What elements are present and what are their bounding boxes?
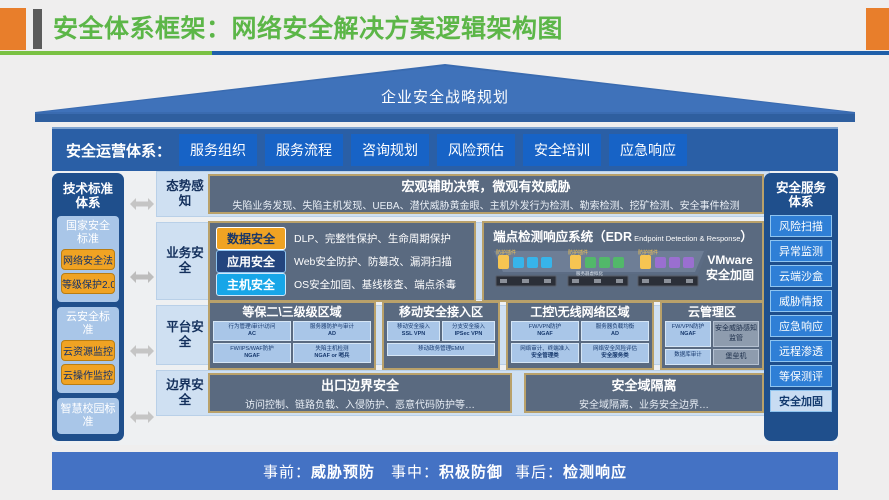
zone-cell[interactable]: 移动安全接入 SSL VPN xyxy=(387,321,440,341)
cell-top: 网络审计、终端准入 xyxy=(520,346,570,352)
cell-bold: NGAF xyxy=(513,331,577,338)
title-bar: 安全体系框架：网络安全解决方案逻辑架构图 xyxy=(0,8,889,50)
service-chip-active[interactable]: 安全加固 xyxy=(770,390,832,412)
zone-cell[interactable]: FW/VPN防护 NGAF xyxy=(665,321,711,347)
row-label: 态势感知 xyxy=(162,179,208,209)
cell-bold: NGAF or 哨兵 xyxy=(295,353,369,360)
double-arrow-icon xyxy=(130,409,154,425)
lifecycle-post-prefix: 事后： xyxy=(515,461,563,482)
cell-bold: AD xyxy=(295,331,369,338)
center-column: 态势感知 宏观辅助决策，微观有效威胁 失陷业务发现、失陷主机发现、UEBA、潜伏… xyxy=(156,171,770,421)
ops-chip[interactable]: 服务组织 xyxy=(179,134,257,166)
cell-top: 移动安全接入 xyxy=(397,324,430,330)
service-chip[interactable]: 远程渗透 xyxy=(770,340,832,362)
cell-bold: 安全管理类 xyxy=(513,353,577,360)
cell-top: FW/VPN防护 xyxy=(529,324,561,330)
tech-standard-heading: 技术标准体系 xyxy=(57,178,119,216)
zone-cell[interactable]: 失陷主机检测 NGAF or 哨兵 xyxy=(293,343,371,363)
svg-text:防护插件: 防护插件 xyxy=(638,249,658,256)
ops-chip-list: 服务组织 服务流程 咨询规划 风险预估 安全培训 应急响应 xyxy=(179,134,687,166)
cell-top: 网络安全风险评估 xyxy=(593,346,637,352)
double-arrow-icon xyxy=(130,343,154,359)
vmware-line2: 安全加固 xyxy=(706,268,754,283)
panel-title: 出口边界安全 xyxy=(321,375,399,394)
rule-blue xyxy=(212,51,889,55)
service-chip[interactable]: 云端沙盒 xyxy=(770,265,832,287)
panel-title: 宏观辅助决策，微观有效威胁 xyxy=(401,176,570,195)
standard-pill[interactable]: 云资源监控 xyxy=(61,340,115,361)
cell-top: 分支安全接入 xyxy=(452,324,485,330)
biz-desc: DLP、完整性保护、生命周期保护 xyxy=(294,231,451,246)
svg-text:服务器虚拟化: 服务器虚拟化 xyxy=(576,270,603,277)
cell-top: 服务器负载均衡 xyxy=(596,324,635,330)
ops-band-title: 安全运营体系： xyxy=(66,140,171,161)
zone-cell[interactable]: 网络安全风险评估 安全服务类 xyxy=(581,343,649,363)
edr-panel[interactable]: 端点检测响应系统（EDR Endpoint Detection & Respon… xyxy=(482,221,764,302)
business-security-item[interactable]: 应用安全 Web安全防护、防篡改、漏洞扫描 xyxy=(216,250,468,273)
ops-chip[interactable]: 应急响应 xyxy=(609,134,687,166)
standard-pill[interactable]: 等级保护2.0 xyxy=(61,273,115,294)
row-boundary-security: 边界安全 出口边界安全 访问控制、链路负载、入侵防护、恶意代码防护等… 安全域隔… xyxy=(156,370,770,416)
zone-cell[interactable]: 安全威胁感知监管 xyxy=(713,321,759,347)
zone-cell[interactable]: FW/VPN防护 NGAF xyxy=(511,321,579,341)
zone-cloud-management[interactable]: 云管理区 FW/VPN防护 NGAF 安全威胁感知监管 数据库审计 xyxy=(660,301,764,370)
biz-desc: OS安全加固、基线核查、端点杀毒 xyxy=(294,277,456,292)
ops-chip[interactable]: 安全培训 xyxy=(523,134,601,166)
edr-illustration: 防护插件 防护插件 防护插件 服务器虚拟化 xyxy=(488,246,710,290)
left-arrow-column xyxy=(128,171,156,445)
ops-chip[interactable]: 服务流程 xyxy=(265,134,343,166)
vmware-line1: VMware xyxy=(706,253,754,268)
svg-text:防护插件: 防护插件 xyxy=(568,249,588,256)
zone-cell[interactable]: 数据库审计 xyxy=(665,349,711,365)
cell-top: FW/IPS/WAF防护 xyxy=(230,346,274,352)
cell-bold: SSL VPN xyxy=(389,331,438,338)
zone-title: 移动安全接入区 xyxy=(387,305,495,319)
ops-chip[interactable]: 风险预估 xyxy=(437,134,515,166)
row-label: 边界安全 xyxy=(162,378,208,408)
biz-tag-host: 主机安全 xyxy=(216,273,286,296)
panel-title: 安全域隔离 xyxy=(611,375,676,394)
roof-label: 企业安全战略规划 xyxy=(35,86,855,107)
panel-subtitle: 失陷业务发现、失陷主机发现、UEBA、潜伏威胁黄金眼、主机外发行为检测、勒索检测… xyxy=(232,197,739,212)
situational-panel[interactable]: 宏观辅助决策，微观有效威胁 失陷业务发现、失陷主机发现、UEBA、潜伏威胁黄金眼… xyxy=(208,174,764,214)
vmware-label: VMware 安全加固 xyxy=(706,253,754,283)
service-chip[interactable]: 等保测评 xyxy=(770,365,832,387)
boundary-zone-isolation-panel[interactable]: 安全域隔离 安全域隔离、业务安全边界… xyxy=(524,373,764,413)
biz-desc: Web安全防护、防篡改、漏洞扫描 xyxy=(294,254,452,269)
lifecycle-bar: 事前：威胁预防 事中：积极防御 事后：检测响应 xyxy=(52,452,838,490)
title-accent-left xyxy=(0,8,26,50)
business-security-item[interactable]: 主机安全 OS安全加固、基线核查、端点杀毒 xyxy=(216,273,468,296)
standard-pill[interactable]: 云操作监控 xyxy=(61,364,115,385)
tech-standard-group: 国家安全标准 网络安全法 等级保护2.0 xyxy=(57,216,119,302)
edr-title-cn: 端点检测响应系统（EDR xyxy=(493,230,632,244)
cell-top: 移动政务管理EMM xyxy=(418,346,464,352)
double-arrow-icon xyxy=(130,196,154,212)
lifecycle-pre-prefix: 事前： xyxy=(263,461,311,482)
group-title: 云安全标准 xyxy=(61,311,115,337)
zone-cell[interactable]: 网络审计、终端准入 安全管理类 xyxy=(511,343,579,363)
cell-bold: NGAF xyxy=(667,331,709,338)
ops-chip[interactable]: 咨询规划 xyxy=(351,134,429,166)
slide-root: 安全体系框架：网络安全解决方案逻辑架构图 企业安全战略规划 安全运营体系： 服务… xyxy=(0,0,889,500)
architecture-body: 技术标准体系 国家安全标准 网络安全法 等级保护2.0 云安全标准 云资源监控 … xyxy=(52,171,838,445)
zone-cell[interactable]: 移动政务管理EMM xyxy=(387,343,495,356)
biz-tag-data: 数据安全 xyxy=(216,227,286,250)
cell-bold: AC xyxy=(215,331,289,338)
panel-subtitle: 安全域隔离、业务安全边界… xyxy=(579,396,709,411)
page-title: 安全体系框架：网络安全解决方案逻辑架构图 xyxy=(53,8,563,50)
cell-bold: IPSec VPN xyxy=(444,331,493,338)
row-label: 平台安全 xyxy=(162,320,208,350)
ops-band: 安全运营体系： 服务组织 服务流程 咨询规划 风险预估 安全培训 应急响应 xyxy=(52,127,838,171)
title-divider xyxy=(33,9,42,49)
cell-bold: AD xyxy=(583,331,647,338)
zone-cell[interactable]: FW/IPS/WAF防护 NGAF xyxy=(213,343,291,363)
cell-bold: NGAF xyxy=(215,353,289,360)
cell-top: 服务器防护与审计 xyxy=(310,324,354,330)
tech-standard-group: 云安全标准 云资源监控 云操作监控 xyxy=(57,307,119,393)
zone-title: 等保二\三级级区域 xyxy=(213,305,371,319)
row-situational-awareness: 态势感知 宏观辅助决策，微观有效威胁 失陷业务发现、失陷主机发现、UEBA、潜伏… xyxy=(156,171,770,217)
edr-title-tail: ） xyxy=(740,230,753,244)
cell-bold: 安全服务类 xyxy=(583,353,647,360)
lifecycle-during-strong: 积极防御 xyxy=(439,461,503,482)
standard-pill[interactable]: 网络安全法 xyxy=(61,249,115,270)
row-label: 业务安全 xyxy=(162,246,208,276)
zone-mobile-access[interactable]: 移动安全接入区 移动安全接入 SSL VPN 分支安全接入 IPSec VPN xyxy=(382,301,500,370)
strategy-roof: 企业安全战略规划 xyxy=(35,64,855,124)
panel-subtitle: 访问控制、链路负载、入侵防护、恶意代码防护等… xyxy=(245,396,475,411)
service-chip[interactable]: 风险扫描 xyxy=(770,215,832,237)
row-platform-security: 平台安全 等保二\三级级区域 行为管理\审计\访问 AC 服务器防护与审计 AD xyxy=(156,305,770,365)
double-arrow-icon xyxy=(130,269,154,285)
lifecycle-pre-strong: 威胁预防 xyxy=(311,461,375,482)
cell-top: FW/VPN防护 xyxy=(672,324,704,330)
title-accent-right xyxy=(866,8,889,50)
edr-title-en: Endpoint Detection & Response xyxy=(632,234,740,243)
tech-standard-panel: 技术标准体系 国家安全标准 网络安全法 等级保护2.0 云安全标准 云资源监控 … xyxy=(52,173,124,441)
cell-top: 失陷主机检测 xyxy=(315,346,348,352)
zone-title: 工控\无线网络区域 xyxy=(511,305,649,319)
cell-top: 行为管理\审计\访问 xyxy=(228,324,275,330)
cell-top: 数据库审计 xyxy=(674,352,702,358)
cell-top: 安全威胁感知监管 xyxy=(715,325,757,342)
zone-cell[interactable]: 分支安全接入 IPSec VPN xyxy=(442,321,495,341)
service-chip[interactable]: 异常监测 xyxy=(770,240,832,262)
zone-industrial-wireless[interactable]: 工控\无线网络区域 FW/VPN防护 NGAF 服务器负载均衡 AD xyxy=(506,301,654,370)
security-service-panel: 安全服务体系 风险扫描 异常监测 云端沙盒 威胁情报 应急响应 远程渗透 等保测… xyxy=(764,173,838,441)
business-security-item[interactable]: 数据安全 DLP、完整性保护、生命周期保护 xyxy=(216,227,468,250)
svg-text:防护插件: 防护插件 xyxy=(496,249,516,256)
edr-title: 端点检测响应系统（EDR Endpoint Detection & Respon… xyxy=(487,226,759,245)
cell-top: 堡垒机 xyxy=(726,353,747,360)
service-chip[interactable]: 威胁情报 xyxy=(770,290,832,312)
row-business-security: 业务安全 数据安全 DLP、完整性保护、生命周期保护 应用安全 Web安全防护、… xyxy=(156,222,770,300)
group-title: 国家安全标准 xyxy=(61,220,115,246)
business-security-list: 数据安全 DLP、完整性保护、生命周期保护 应用安全 Web安全防护、防篡改、漏… xyxy=(208,221,476,302)
smart-campus-standard[interactable]: 智慧校园标准 xyxy=(57,398,119,434)
rule-green xyxy=(0,51,212,55)
lifecycle-post-strong: 检测响应 xyxy=(563,461,627,482)
zone-graded-protection[interactable]: 等保二\三级级区域 行为管理\审计\访问 AC 服务器防护与审计 AD xyxy=(208,301,376,370)
zone-cell[interactable]: 服务器防护与审计 AD xyxy=(293,321,371,341)
zone-cell[interactable]: 堡垒机 xyxy=(713,349,759,365)
service-chip[interactable]: 应急响应 xyxy=(770,315,832,337)
zone-title: 云管理区 xyxy=(665,305,759,319)
zone-cell[interactable]: 服务器负载均衡 AD xyxy=(581,321,649,341)
zone-cell[interactable]: 行为管理\审计\访问 AC xyxy=(213,321,291,341)
boundary-egress-panel[interactable]: 出口边界安全 访问控制、链路负载、入侵防护、恶意代码防护等… xyxy=(208,373,512,413)
security-service-heading: 安全服务体系 xyxy=(770,178,832,215)
lifecycle-during-prefix: 事中： xyxy=(391,461,439,482)
biz-tag-app: 应用安全 xyxy=(216,250,286,273)
